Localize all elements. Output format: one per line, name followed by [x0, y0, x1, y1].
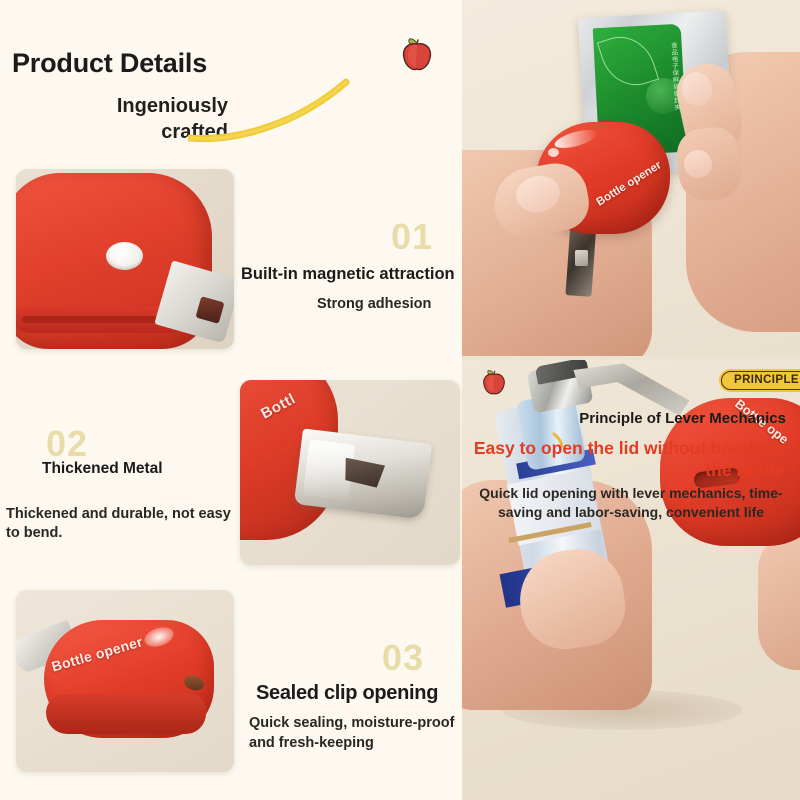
magnet-disc — [106, 242, 143, 270]
feature-number-01: 01 — [391, 216, 433, 258]
feature-subheading-03: Quick sealing, moisture-proof and fresh-… — [249, 714, 461, 753]
principle-badge: PRINCIPLE — [721, 371, 800, 390]
photo-hands-with-sachet: 食品电子保鲜袋密封夹 Bottle opener — [462, 0, 800, 356]
feature-photo-magnetic — [16, 169, 234, 349]
feature-subheading-01: Strong adhesion — [317, 296, 431, 312]
page-title: Product Details — [12, 48, 207, 79]
feature-heading-02: Thickened Metal — [42, 459, 192, 479]
product-details-page: Product Details Ingeniously crafted Bott… — [0, 0, 800, 800]
feature-heading-01: Built-in magnetic attraction — [241, 265, 455, 284]
principle-title: Principle of Lever Mechanics — [462, 410, 792, 427]
apple-icon — [400, 36, 434, 72]
apple-icon — [481, 368, 507, 396]
feature-photo-metal-clip: Bottl — [240, 380, 460, 565]
feature-subheading-02: Thickened and durable, not easy to bend. — [6, 505, 244, 543]
principle-highlight: Easy to open the lid without breaking th… — [462, 438, 792, 481]
page-subtitle: Ingeniously crafted — [68, 93, 228, 146]
feature-photo-sealed-clip: Bottle opener — [16, 590, 234, 772]
principle-description: Quick lid opening with lever mechanics, … — [470, 484, 792, 522]
feature-number-03: 03 — [382, 637, 424, 679]
feature-heading-03: Sealed clip opening — [256, 682, 438, 705]
